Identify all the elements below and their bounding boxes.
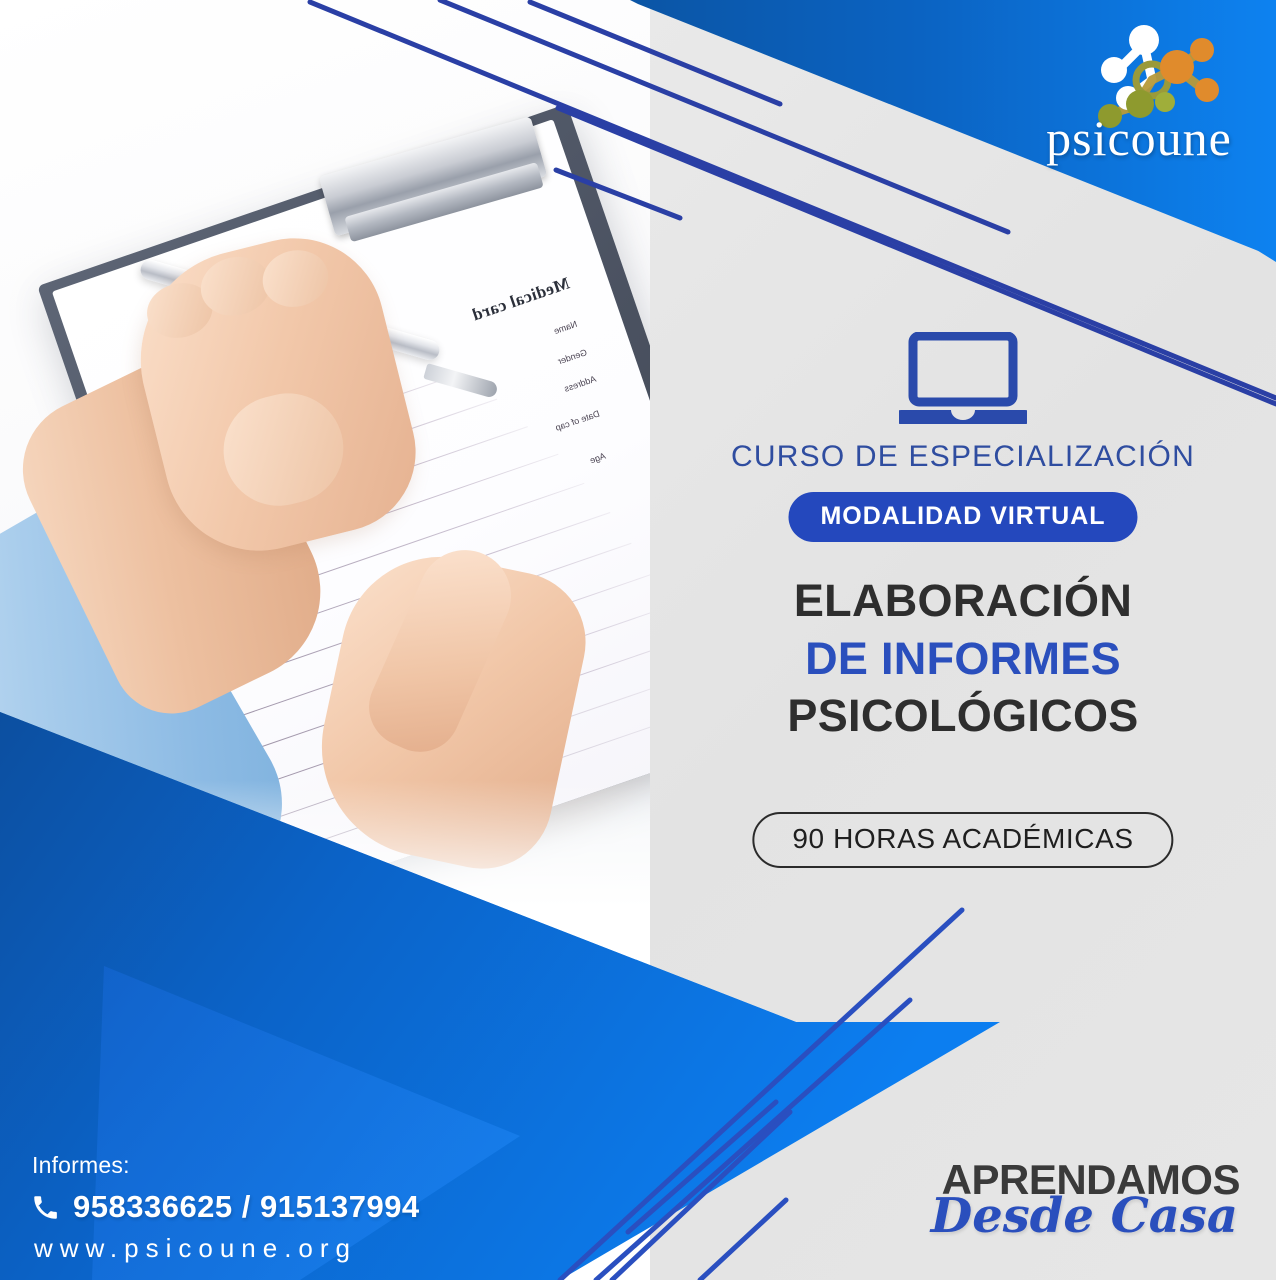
informes-label: Informes:	[32, 1152, 420, 1179]
tagline-block: APRENDAMOS Desde Casa	[920, 1144, 1240, 1254]
form-title: Medical card	[470, 273, 573, 325]
course-title: ELABORACIÓN DE INFORMES PSICOLÓGICOS	[650, 572, 1276, 745]
clipboard-photo: Medical card Name Gender Address Date of…	[0, 0, 650, 930]
academic-hours-badge: 90 HORAS ACADÉMICAS	[752, 812, 1173, 868]
title-line-3: PSICOLÓGICOS	[650, 687, 1276, 745]
content-column: CURSO DE ESPECIALIZACIÓN MODALIDAD VIRTU…	[650, 0, 1276, 1280]
website-url[interactable]: www.psicoune.org	[34, 1233, 420, 1264]
photo-fade-overlay	[0, 780, 650, 930]
tagline-line-2: Desde Casa	[931, 1188, 1238, 1244]
laptop-icon	[899, 332, 1027, 426]
phone-row[interactable]: 958336625 / 915137994	[32, 1189, 420, 1225]
course-kicker: CURSO DE ESPECIALIZACIÓN	[650, 440, 1276, 474]
title-line-2: DE INFORMES	[650, 630, 1276, 688]
title-line-1: ELABORACIÓN	[650, 572, 1276, 630]
phone-numbers: 958336625 / 915137994	[73, 1189, 420, 1225]
phone-icon	[32, 1194, 59, 1221]
modality-badge: MODALIDAD VIRTUAL	[788, 492, 1137, 542]
poster-canvas: Medical card Name Gender Address Date of…	[0, 0, 1276, 1280]
contact-block: Informes: 958336625 / 915137994 www.psic…	[32, 1152, 420, 1264]
